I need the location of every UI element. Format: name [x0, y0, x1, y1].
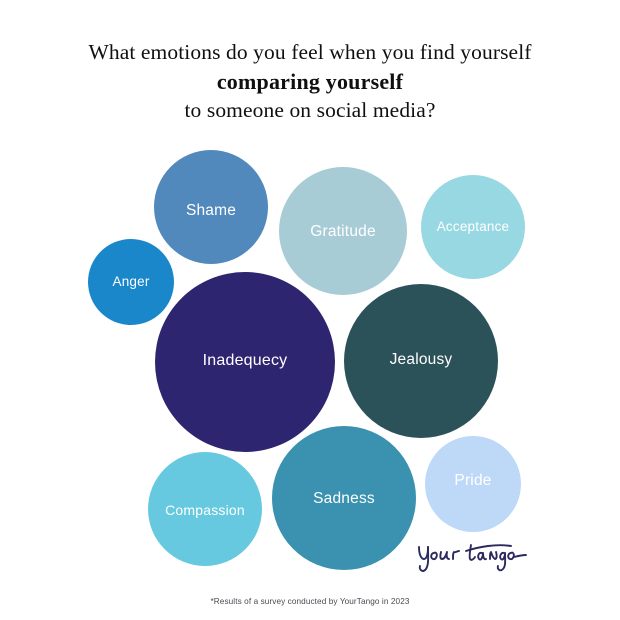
- bubble-label-inadequecy: Inadequecy: [155, 352, 335, 370]
- bubble-label-jealousy: Jealousy: [344, 351, 498, 369]
- bubble-label-sadness: Sadness: [272, 490, 416, 508]
- bubble-label-acceptance: Acceptance: [421, 219, 525, 234]
- bubble-pride[interactable]: Pride: [425, 436, 521, 532]
- survey-source-footnote: *Results of a survey conducted by YourTa…: [0, 596, 620, 608]
- bubble-compassion[interactable]: Compassion: [148, 452, 262, 566]
- bubble-acceptance[interactable]: Acceptance: [421, 175, 525, 279]
- bubble-shame[interactable]: Shame: [154, 150, 268, 264]
- bubble-label-gratitude: Gratitude: [279, 223, 407, 241]
- bubble-inadequecy[interactable]: Inadequecy: [155, 272, 335, 452]
- bubble-sadness[interactable]: Sadness: [272, 426, 416, 570]
- bubble-label-shame: Shame: [154, 202, 268, 220]
- bubble-label-pride: Pride: [425, 472, 521, 490]
- emotion-bubble-chart: ShameAngerGratitudeAcceptanceInadequecyJ…: [0, 0, 620, 620]
- bubble-gratitude[interactable]: Gratitude: [279, 167, 407, 295]
- bubble-label-anger: Anger: [88, 274, 174, 289]
- bubble-label-compassion: Compassion: [148, 502, 262, 518]
- bubble-jealousy[interactable]: Jealousy: [344, 284, 498, 438]
- bubble-anger[interactable]: Anger: [88, 239, 174, 325]
- yourtango-logo: [414, 534, 530, 574]
